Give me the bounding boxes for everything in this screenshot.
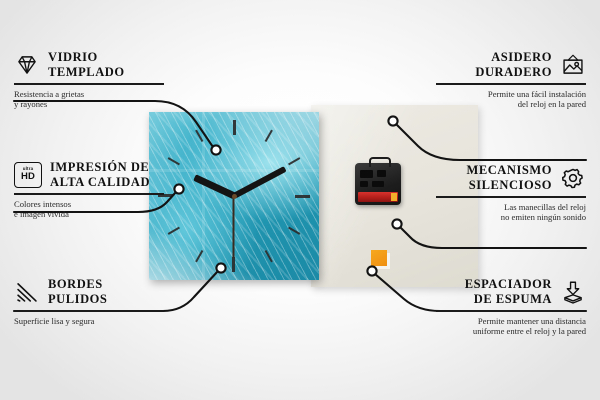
feature-title: BORDES PULIDOS xyxy=(48,277,107,306)
feature-rule xyxy=(436,196,586,198)
feature-rule xyxy=(436,310,586,312)
feature-header: BORDES PULIDOS xyxy=(14,277,164,306)
feature-title: ESPACIADOR DE ESPUMA xyxy=(465,277,552,306)
feature-mecanismo-silencioso: MECANISMO SILENCIOSO Las manecillas del … xyxy=(436,163,586,223)
feature-description: Permite mantener una distancia uniforme … xyxy=(436,316,586,337)
feature-impresion-alta-calidad: ultra HD IMPRESIÓN DE ALTA CALIDAD Color… xyxy=(14,160,164,220)
feature-description: Permite una fácil instalación del reloj … xyxy=(436,89,586,110)
feature-rule xyxy=(14,193,164,195)
hd-badge-main-label: HD xyxy=(21,172,35,182)
feature-title: ASIDERO DURADERO xyxy=(475,50,552,79)
feature-description: Colores intensos e imagen vívida xyxy=(14,199,164,220)
connector-asidero xyxy=(396,124,586,160)
feature-title: VIDRIO TEMPLADO xyxy=(48,50,125,79)
feature-vidrio-templado: VIDRIO TEMPLADO Resistencia a grietas y … xyxy=(14,50,164,110)
feature-rule xyxy=(14,83,164,85)
diamond-icon xyxy=(14,53,40,77)
feature-bordes-pulidos: BORDES PULIDOS Superficie lisa y segura xyxy=(14,277,164,326)
feature-header: ESPACIADOR DE ESPUMA xyxy=(436,277,586,306)
connector-node-espaciador xyxy=(367,266,376,275)
connector-node-asidero xyxy=(388,116,397,125)
feature-rule xyxy=(436,83,586,85)
infographic-canvas: VIDRIO TEMPLADO Resistencia a grietas y … xyxy=(0,0,600,400)
gear-icon xyxy=(560,166,586,190)
feature-description: Las manecillas del reloj no emiten ningú… xyxy=(436,202,586,223)
connector-node-mecanismo xyxy=(392,219,401,228)
feature-espaciador-de-espuma: ESPACIADOR DE ESPUMA Permite mantener un… xyxy=(436,277,586,337)
connector-node-bordes xyxy=(216,263,225,272)
feature-description: Resistencia a grietas y rayones xyxy=(14,89,164,110)
ultra-hd-badge-icon: ultra HD xyxy=(14,162,42,188)
feature-rule xyxy=(14,310,164,312)
feature-title: IMPRESIÓN DE ALTA CALIDAD xyxy=(50,160,150,189)
foam-spacer-icon xyxy=(560,280,586,304)
connector-node-impresion xyxy=(174,184,183,193)
connector-node-vidrio-templado xyxy=(211,145,220,154)
connector-mecanismo xyxy=(400,227,586,248)
feature-title: MECANISMO SILENCIOSO xyxy=(466,163,552,192)
feature-description: Superficie lisa y segura xyxy=(14,316,164,327)
picture-hanger-icon xyxy=(560,53,586,77)
feature-header: ultra HD IMPRESIÓN DE ALTA CALIDAD xyxy=(14,160,164,189)
polished-edges-icon xyxy=(14,280,40,304)
feature-header: ASIDERO DURADERO xyxy=(436,50,586,79)
feature-header: VIDRIO TEMPLADO xyxy=(14,50,164,79)
feature-asidero-duradero: ASIDERO DURADERO Permite una fácil insta… xyxy=(436,50,586,110)
feature-header: MECANISMO SILENCIOSO xyxy=(436,163,586,192)
